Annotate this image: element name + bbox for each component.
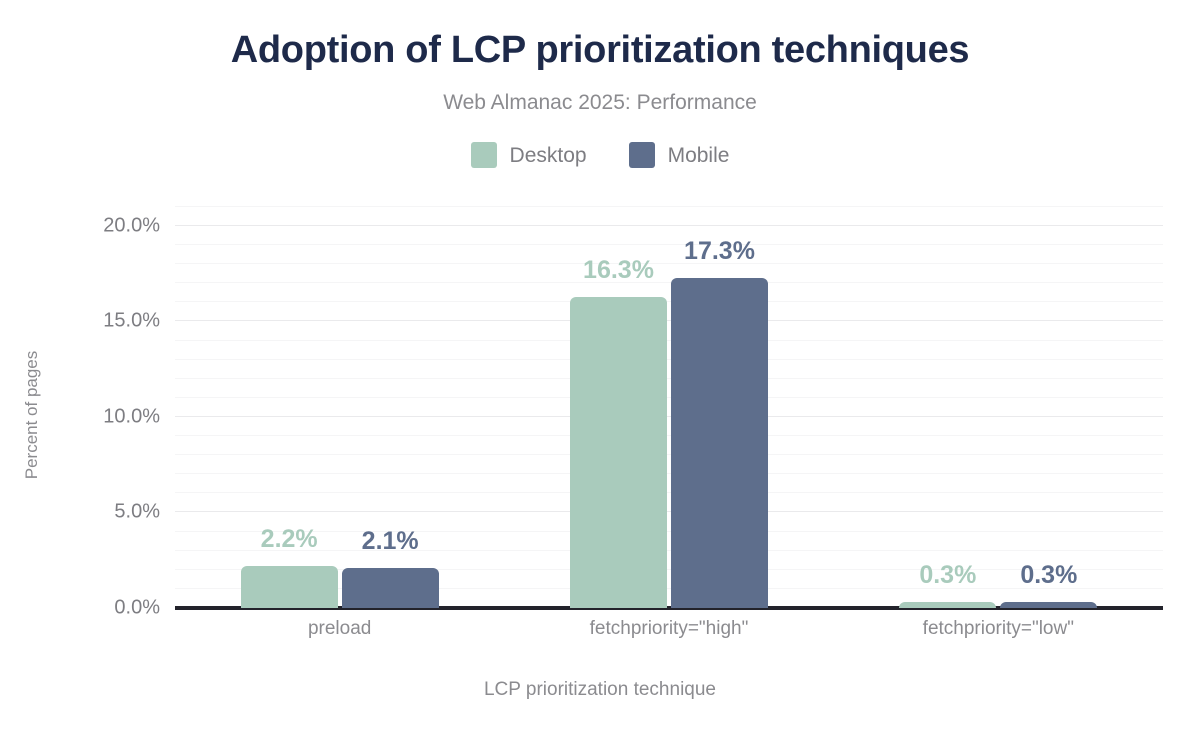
x-axis-tick-label: fetchpriority="low" bbox=[834, 618, 1163, 648]
x-axis-tick-label: fetchpriority="high" bbox=[504, 618, 833, 648]
chart-legend: DesktopMobile bbox=[0, 142, 1200, 168]
bar-mobile[interactable] bbox=[1000, 602, 1097, 608]
bar-value-label: 17.3% bbox=[684, 239, 755, 264]
bar-value-label: 2.1% bbox=[362, 529, 419, 554]
bar-slot: 17.3% bbox=[671, 203, 768, 608]
y-axis-tick-label: 0.0% bbox=[114, 597, 160, 620]
legend-item-desktop[interactable]: Desktop bbox=[471, 142, 587, 168]
y-axis-tick-label: 15.0% bbox=[103, 310, 160, 333]
bar-group: 2.2%2.1% bbox=[175, 203, 504, 608]
bar-group: 16.3%17.3% bbox=[504, 203, 833, 608]
y-axis-tick-label: 5.0% bbox=[114, 501, 160, 524]
bar-value-label: 16.3% bbox=[583, 258, 654, 283]
bar-mobile[interactable] bbox=[342, 568, 439, 608]
chart-subtitle: Web Almanac 2025: Performance bbox=[0, 91, 1200, 115]
x-axis-tick-label: preload bbox=[175, 618, 504, 648]
bar-desktop[interactable] bbox=[241, 566, 338, 608]
y-axis-title: Percent of pages bbox=[22, 335, 42, 495]
bars-layer: 2.2%2.1%16.3%17.3%0.3%0.3% bbox=[175, 203, 1163, 608]
bar-group: 0.3%0.3% bbox=[834, 203, 1163, 608]
legend-swatch-icon bbox=[629, 142, 655, 168]
bar-desktop[interactable] bbox=[899, 602, 996, 608]
bar-mobile[interactable] bbox=[671, 278, 768, 608]
legend-item-mobile[interactable]: Mobile bbox=[629, 142, 730, 168]
legend-swatch-icon bbox=[471, 142, 497, 168]
x-axis-title: LCP prioritization technique bbox=[0, 679, 1200, 701]
bar-slot: 16.3% bbox=[570, 203, 667, 608]
bar-value-label: 0.3% bbox=[919, 563, 976, 588]
bar-chart: Adoption of LCP prioritization technique… bbox=[0, 0, 1200, 742]
x-axis-ticks: preloadfetchpriority="high"fetchpriority… bbox=[175, 618, 1163, 648]
bar-value-label: 0.3% bbox=[1020, 563, 1077, 588]
chart-title: Adoption of LCP prioritization technique… bbox=[0, 30, 1200, 72]
bar-slot: 0.3% bbox=[1000, 203, 1097, 608]
y-axis-tick-label: 20.0% bbox=[103, 214, 160, 237]
y-axis-tick-label: 10.0% bbox=[103, 405, 160, 428]
bar-slot: 0.3% bbox=[899, 203, 996, 608]
bar-slot: 2.2% bbox=[241, 203, 338, 608]
bar-desktop[interactable] bbox=[570, 297, 667, 608]
legend-item-label: Desktop bbox=[510, 145, 587, 166]
bar-value-label: 2.2% bbox=[261, 527, 318, 552]
legend-item-label: Mobile bbox=[668, 145, 730, 166]
bar-slot: 2.1% bbox=[342, 203, 439, 608]
